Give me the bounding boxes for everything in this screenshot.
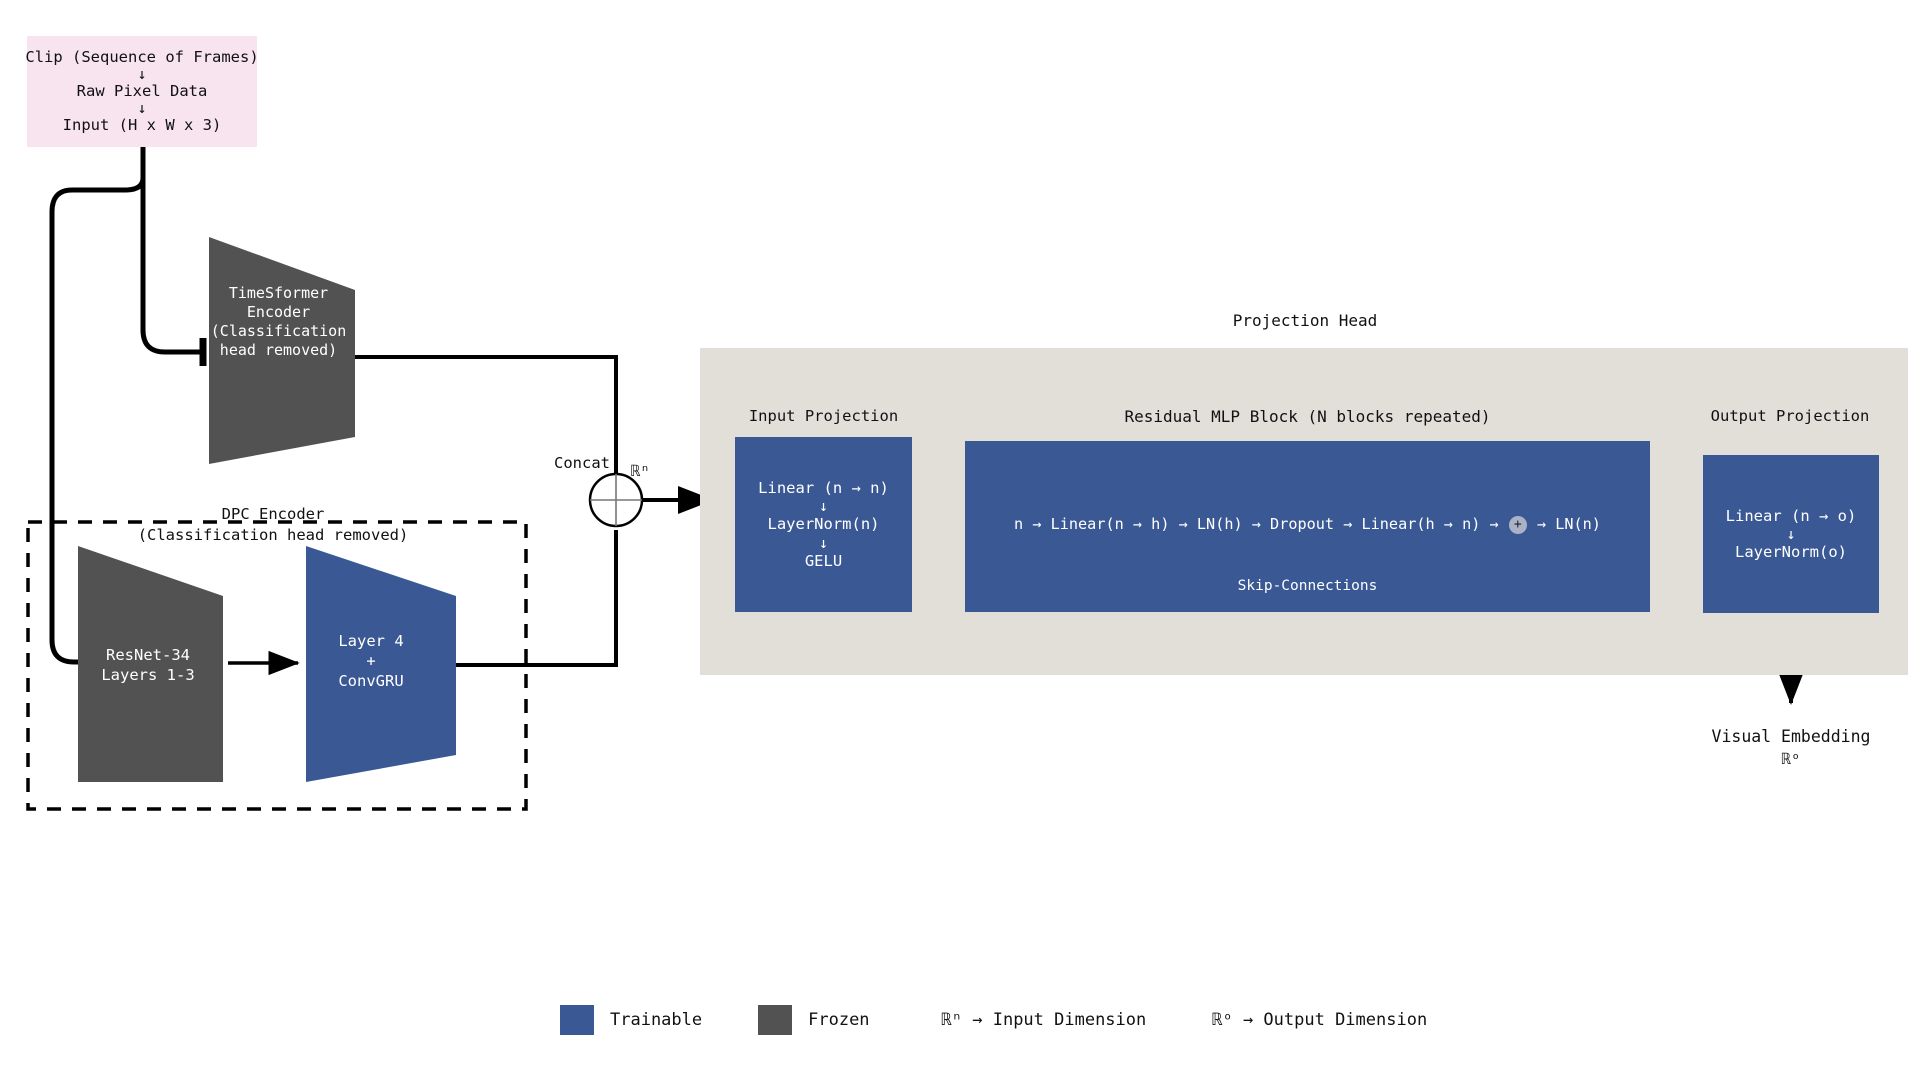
layer4-label-line3: ConvGRU: [306, 671, 436, 692]
input-projection-layernorm-label: LayerNorm(n): [768, 514, 880, 534]
resnet34-label-line2: Layers 1-3: [78, 665, 218, 686]
input-clip-label: Clip (Sequence of Frames): [25, 48, 258, 66]
dpc-encoder-subtitle: (Classification head removed): [108, 525, 438, 546]
layer4-label-plus: +: [306, 651, 436, 672]
visual-embedding-dim-label: ℝᵒ: [1661, 749, 1920, 770]
output-projection-layernorm-label: LayerNorm(o): [1735, 542, 1847, 562]
input-projection-arrow-2-icon: ↓: [819, 535, 828, 552]
legend-item-input-dim: ℝⁿ → Input Dimension: [926, 1010, 1147, 1030]
timesformer-label-line1: TimeSformer: [196, 283, 361, 303]
legend-frozen-label: Frozen: [808, 1010, 869, 1030]
input-projection-box: Linear (n → n) ↓ LayerNorm(n) ↓ GELU: [735, 437, 912, 612]
legend-item-output-dim: ℝᵒ → Output Dimension: [1196, 1010, 1427, 1030]
residual-add-node: +: [1509, 516, 1527, 534]
projection-head-title: Projection Head: [1115, 310, 1495, 332]
legend-item-frozen: Frozen: [758, 1005, 869, 1035]
input-arrow-1-icon: ↓: [137, 67, 146, 83]
output-projection-title: Output Projection: [1690, 406, 1890, 427]
residual-mlp-chain-post: → LN(n): [1528, 515, 1601, 533]
output-projection-linear-label: Linear (n → o): [1726, 506, 1857, 526]
legend-input-dim-label: ℝⁿ → Input Dimension: [942, 1010, 1147, 1030]
timesformer-label-line4: head removed): [196, 340, 361, 360]
residual-mlp-chain-pre: n → Linear(n → h) → LN(h) → Dropout → Li…: [1014, 515, 1508, 533]
residual-mlp-title: Residual MLP Block (N blocks repeated): [965, 406, 1650, 428]
trainable-swatch-icon: [560, 1005, 594, 1035]
input-projection-title: Input Projection: [735, 406, 912, 427]
output-projection-arrow-icon: ↓: [1786, 526, 1795, 543]
input-raw-pixel-label: Raw Pixel Data: [77, 82, 208, 100]
timesformer-label-line2: Encoder: [196, 302, 361, 322]
input-projection-gelu-label: GELU: [805, 551, 842, 571]
layer4-label-line1: Layer 4: [306, 631, 436, 652]
concat-output-dim-label: ℝⁿ: [631, 461, 691, 482]
input-arrow-2-icon: ↓: [137, 101, 146, 117]
connector-timesformer-to-concat: [355, 357, 616, 500]
legend-trainable-label: Trainable: [610, 1010, 702, 1030]
legend: Trainable Frozen ℝⁿ → Input Dimension ℝᵒ…: [560, 1005, 1427, 1035]
legend-item-trainable: Trainable: [560, 1005, 702, 1035]
resnet34-label-line1: ResNet-34: [78, 645, 218, 666]
input-block: Clip (Sequence of Frames) ↓ Raw Pixel Da…: [27, 36, 257, 147]
connector-input-to-timesformer: [143, 178, 200, 352]
output-projection-box: Linear (n → o) ↓ LayerNorm(o): [1703, 455, 1879, 613]
skip-connections-label: Skip-Connections: [965, 578, 1650, 594]
input-projection-arrow-1-icon: ↓: [819, 498, 828, 515]
legend-output-dim-label: ℝᵒ → Output Dimension: [1212, 1010, 1427, 1030]
frozen-swatch-icon: [758, 1005, 792, 1035]
timesformer-label-line3: (Classification: [196, 321, 361, 341]
concat-label: Concat: [520, 453, 610, 474]
visual-embedding-label: Visual Embedding: [1661, 726, 1920, 748]
residual-mlp-chain: n → Linear(n → h) → LN(h) → Dropout → Li…: [965, 515, 1650, 534]
dpc-encoder-title: DPC Encoder: [108, 504, 438, 525]
input-projection-linear-label: Linear (n → n): [758, 478, 889, 498]
connector-layer4-to-concat: [456, 530, 616, 665]
input-shape-label: Input (H x W x 3): [63, 116, 222, 134]
